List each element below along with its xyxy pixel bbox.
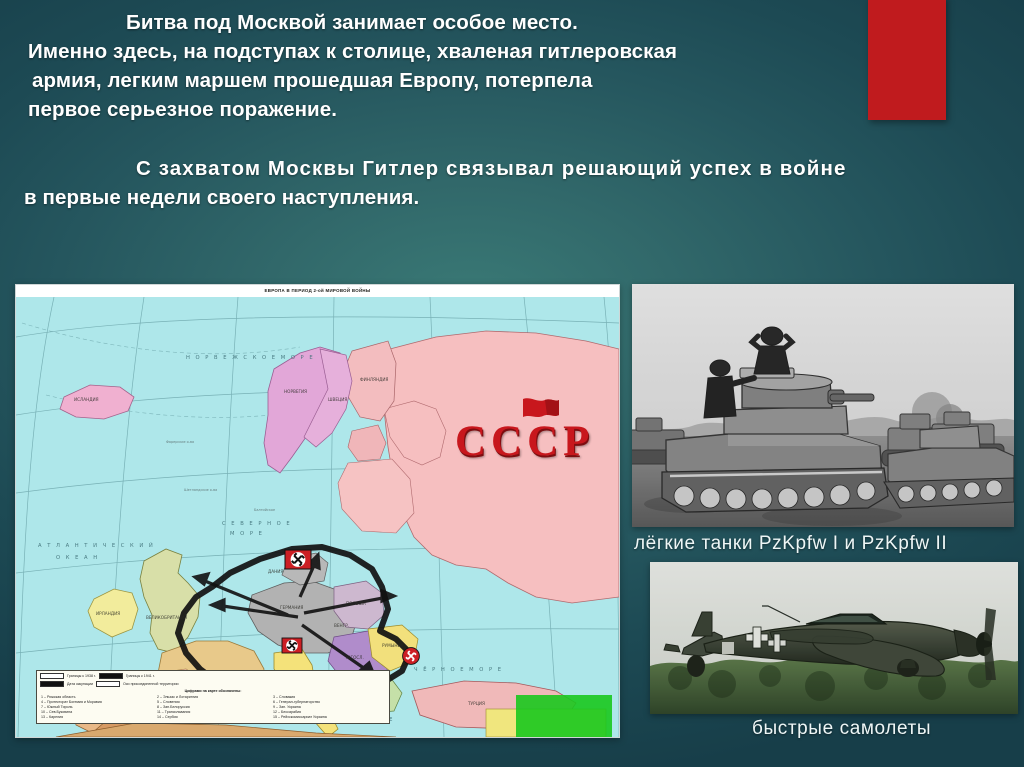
legend-row: Дата оккупации Оси присоединенной террит…	[37, 679, 389, 687]
svg-text:Н О Р В Е Ж С К О Е М О Р Е: Н О Р В Е Ж С К О Е М О Р Е	[186, 355, 315, 361]
svg-text:НОРВЕГИЯ: НОРВЕГИЯ	[284, 389, 307, 394]
map-canvas: ИСЛАНДИЯ НОРВЕГИЯ ШВЕЦИЯ ФИНЛЯНДИЯ ИРЛАН…	[16, 297, 619, 737]
map-legend: Границы к 1938 г. Границы к 1941 г. Дата…	[36, 670, 390, 724]
body-line-6: в первые недели своего наступления.	[24, 183, 904, 212]
caption-light-tanks: лёгкие танки PzKpfw I и PzKpfw II	[634, 533, 947, 555]
body-line-4: первое серьезное поражение.	[24, 95, 904, 124]
presentation-slide: Битва под Москвой занимает особое место.…	[0, 0, 1024, 767]
svg-text:ПОЛЬША: ПОЛЬША	[346, 601, 366, 606]
svg-text:ИРЛАНДИЯ: ИРЛАНДИЯ	[96, 611, 120, 616]
svg-text:О К Е А Н: О К Е А Н	[56, 555, 99, 561]
svg-text:ГЕРМАНИЯ: ГЕРМАНИЯ	[280, 605, 303, 610]
legend-item: 14 – Сербия	[157, 715, 269, 720]
svg-text:ВЕЛИКОБРИТАНИЯ: ВЕЛИКОБРИТАНИЯ	[146, 615, 187, 620]
svg-text:ТУРЦИЯ: ТУРЦИЯ	[467, 701, 485, 706]
legend-label-occupation: Дата оккупации	[67, 682, 93, 687]
legend-swatch-1938	[40, 673, 64, 679]
legend-swatch-1941	[99, 673, 123, 679]
paragraph-spacer	[24, 124, 904, 154]
slide-body-text: Битва под Москвой занимает особое место.…	[24, 8, 904, 212]
svg-text:Балтийское: Балтийское	[254, 508, 275, 512]
soviet-flag-icon	[521, 396, 561, 424]
caption-fast-aircraft: быстрые самолеты	[752, 718, 931, 740]
svg-text:М О Р Е: М О Р Е	[230, 531, 264, 537]
svg-text:ИСЛАНДИЯ: ИСЛАНДИЯ	[74, 397, 99, 402]
svg-text:ЮГОСЛ.: ЮГОСЛ.	[346, 655, 364, 660]
body-line-3: армия, легким маршем прошедшая Европу, п…	[24, 66, 904, 95]
legend-swatch-annexed	[96, 681, 120, 687]
photo-fast-aircraft[interactable]	[650, 562, 1018, 714]
legend-item: 13 – Карелия	[41, 715, 153, 720]
svg-text:ШВЕЦИЯ: ШВЕЦИЯ	[328, 397, 347, 402]
legend-number-list: 1 – Рижская область 4 – Протекторат Боге…	[37, 694, 389, 721]
photo-light-tanks[interactable]	[632, 284, 1014, 527]
svg-text:Ч Ё Р Н О Е М О Р Е: Ч Ё Р Н О Е М О Р Е	[414, 666, 503, 673]
legend-label-1938: Границы к 1938 г.	[67, 674, 96, 679]
svg-text:ДАНИЯ: ДАНИЯ	[268, 569, 283, 574]
map-title: ЕВРОПА В ПЕРИОД 2-ой МИРОВОЙ ВОЙНЫ	[16, 285, 619, 297]
legend-label-1941: Границы к 1941 г.	[126, 674, 155, 679]
svg-text:ФИНЛЯНДИЯ: ФИНЛЯНДИЯ	[360, 377, 388, 382]
legend-row: Границы к 1938 г. Границы к 1941 г.	[37, 671, 389, 679]
svg-text:С Е В Е Р Н О Е: С Е В Е Р Н О Е	[222, 521, 292, 527]
svg-text:ВЕНГР.: ВЕНГР.	[334, 623, 349, 628]
body-line-5: С захватом Москвы Гитлер связывал решающ…	[24, 154, 904, 183]
svg-text:РУМЫНИЯ: РУМЫНИЯ	[382, 643, 404, 648]
body-line-2: Именно здесь, на подступах к столице, хв…	[24, 37, 904, 66]
legend-item: 15 – Рейхскомиссариат Украина	[273, 715, 385, 720]
europe-wwii-map[interactable]: ЕВРОПА В ПЕРИОД 2-ой МИРОВОЙ ВОЙНЫ	[15, 284, 620, 738]
legend-label-annexed: Оси присоединенной территории	[123, 682, 179, 687]
legend-swatch-occupation	[40, 681, 64, 687]
svg-text:Фарерские о-ва: Фарерские о-ва	[166, 440, 194, 444]
svg-text:Шетландские о-ва: Шетландские о-ва	[184, 488, 217, 492]
svg-text:А Т Л А Н Т И Ч Е С К И Й: А Т Л А Н Т И Ч Е С К И Й	[38, 542, 155, 549]
body-line-1: Битва под Москвой занимает особое место.	[24, 8, 904, 37]
